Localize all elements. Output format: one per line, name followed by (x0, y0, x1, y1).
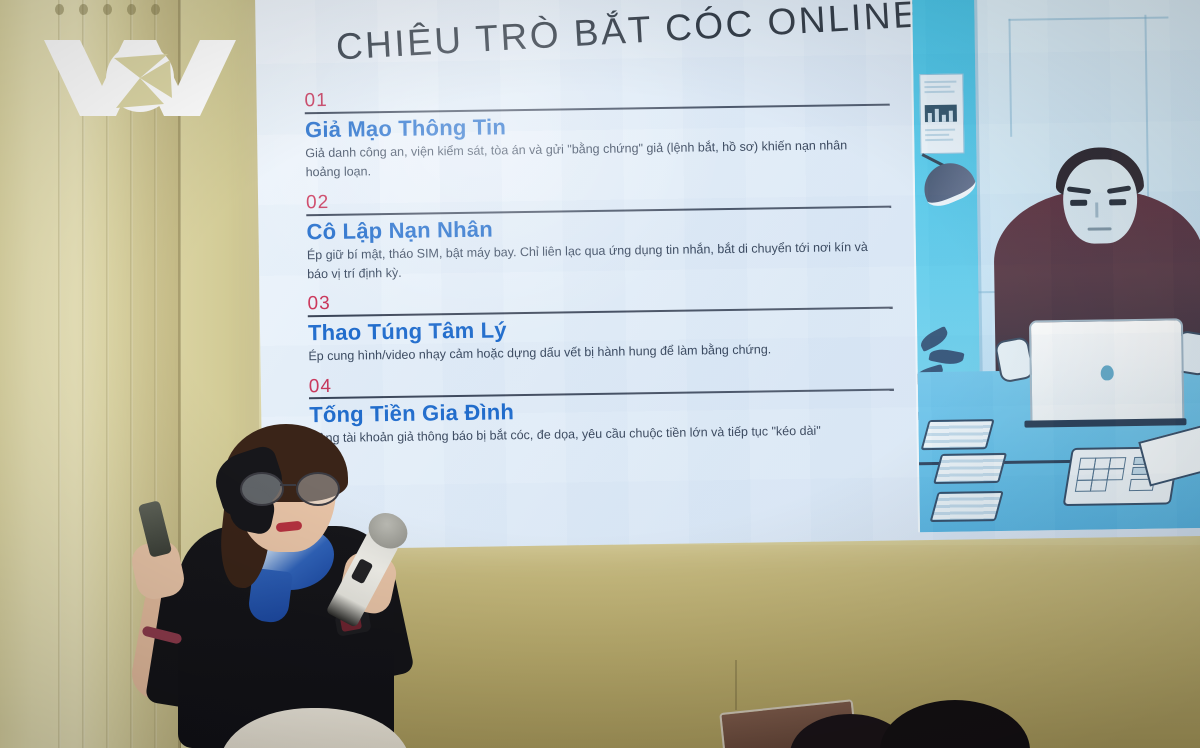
slide-item: 02 Cô Lập Nạn Nhân Ép giữ bí mật, tháo S… (306, 184, 927, 285)
presenter (60, 430, 440, 748)
slide-item: 01 Giả Mạo Thông Tin Giả danh công an, v… (304, 82, 925, 183)
wall-seam-vertical (735, 660, 737, 710)
laptop-icon (1029, 318, 1185, 424)
cash-stack-icon (921, 419, 995, 450)
apple-logo-icon (1101, 365, 1114, 380)
slide-item-list: 01 Giả Mạo Thông Tin Giả danh công an, v… (304, 82, 929, 459)
microphone-button (351, 558, 374, 584)
item-description: Giả danh công an, viện kiểm sát, tòa án … (305, 136, 882, 183)
item-description: Ép giữ bí mật, tháo SIM, bật máy bay. Ch… (307, 237, 884, 284)
wall-poster-icon (919, 74, 964, 155)
slide-title: CHIÊU TRÒ BẮT CÓC ONLINE (335, 0, 896, 68)
cash-stack-icon (933, 453, 1007, 484)
eyeglasses-icon (240, 472, 336, 502)
microphone-head (362, 506, 413, 555)
slide-item: 03 Thao Túng Tâm Lý Ép cung hình/video n… (307, 285, 928, 366)
scam-room-illustration (910, 0, 1200, 532)
cash-stack-icon (930, 491, 1004, 522)
vov-logo (40, 24, 240, 124)
presentation-photo-scene: CHIÊU TRÒ BẮT CÓC ONLINE 01 Giả Mạo Thôn… (0, 0, 1200, 748)
